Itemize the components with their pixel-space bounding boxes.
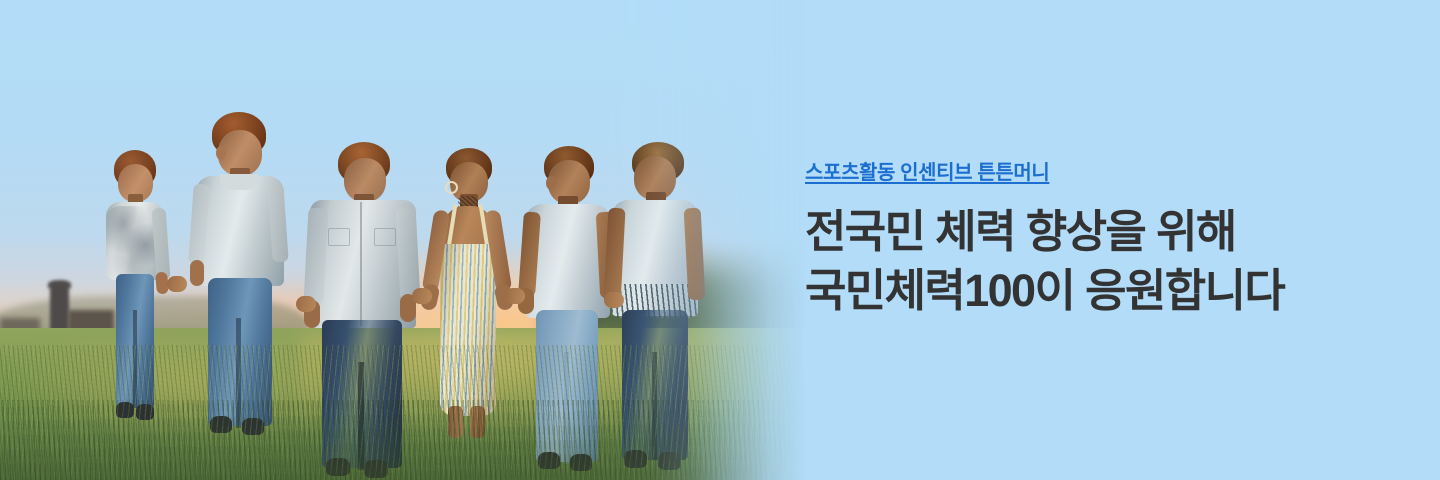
promo-banner: 스포츠활동 인센티브 튼튼머니 전국민 체력 향상을 위해 국민체력100이 응…	[0, 0, 1440, 480]
joined-hands-3	[412, 288, 432, 304]
joined-hands-5	[604, 292, 624, 308]
grass-foreground-shade	[0, 414, 810, 480]
banner-copy: 스포츠활동 인센티브 튼튼머니 전국민 체력 향상을 위해 국민체력100이 응…	[805, 160, 1385, 320]
joined-hands-1	[167, 276, 187, 292]
banner-eyebrow[interactable]: 스포츠활동 인센티브 튼튼머니	[805, 160, 1385, 186]
collar	[220, 174, 258, 190]
shirt-pocket-left	[328, 228, 350, 246]
family-photo	[0, 0, 810, 480]
shirt-seam	[360, 202, 362, 326]
left-hand	[190, 260, 204, 286]
headline-line-2: 국민체력100이 응원합니다	[805, 262, 1385, 321]
joined-hands-2	[296, 296, 316, 312]
banner-headline: 전국민 체력 향상을 위해 국민체력100이 응원합니다	[805, 203, 1385, 320]
ear	[216, 146, 226, 160]
ear	[546, 176, 556, 190]
shirt-pocket-right	[374, 228, 396, 246]
headline-line-1: 전국민 체력 향상을 위해	[805, 203, 1385, 262]
earring	[445, 181, 458, 194]
joined-hands-4	[505, 288, 525, 304]
